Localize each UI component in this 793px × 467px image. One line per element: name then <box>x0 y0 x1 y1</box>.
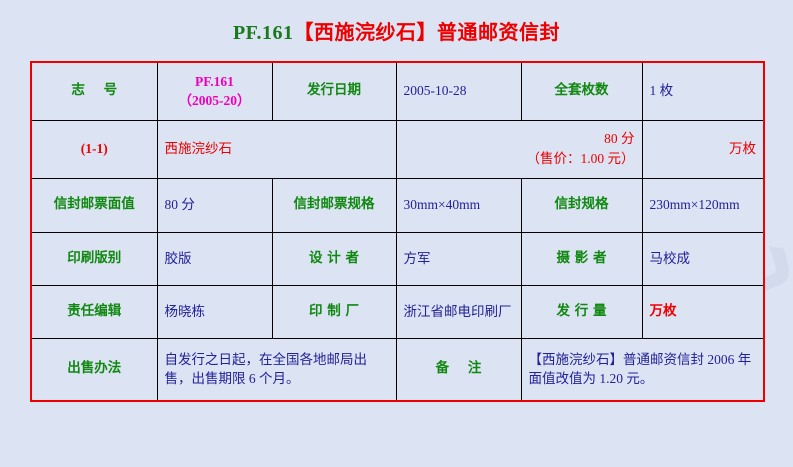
table-row: 责任编辑 杨晓栋 印 制 厂 浙江省邮电印刷厂 发 行 量 万枚 <box>31 285 764 338</box>
cell-value-printing-type: 胶版 <box>157 232 272 285</box>
cell-value-designer: 方军 <box>396 232 521 285</box>
cell-label-item-index: (1-1) <box>31 120 157 178</box>
page-title-name: 【西施浣纱石】普通邮资信封 <box>294 22 561 44</box>
cell-label-stamp-face-value: 信封邮票面值 <box>31 178 157 232</box>
cell-label-remarks: 备 注 <box>396 338 521 401</box>
cell-value-issue-date: 2005-10-28 <box>396 62 521 120</box>
cell-label-sales-method: 出售办法 <box>31 338 157 401</box>
cell-label-issue-date: 发行日期 <box>272 62 396 120</box>
cell-label-serial-number: 志 号 <box>31 62 157 120</box>
cell-value-stamp-face-value: 80 分 <box>157 178 272 232</box>
cell-value-editor: 杨晓栋 <box>157 285 272 338</box>
cell-value-envelope-size: 230mm×120mm <box>642 178 764 232</box>
cell-label-printer: 印 制 厂 <box>272 285 396 338</box>
serial-code-line-1: PF.161 <box>165 72 265 92</box>
cell-value-set-count: 1 枚 <box>642 62 764 120</box>
cell-value-item-name: 西施浣纱石 <box>157 120 396 178</box>
table-row: 志 号 PF.161 （2005-20） 发行日期 2005-10-28 全套枚… <box>31 62 764 120</box>
cell-value-face-and-price: 80 分 （售价：1.00 元） <box>396 120 642 178</box>
serial-code-line-2: （2005-20） <box>165 91 265 111</box>
cell-value-sales-method: 自发行之日起，在全国各地邮局出售，出售期限 6 个月。 <box>157 338 396 401</box>
cell-label-photographer: 摄 影 者 <box>521 232 642 285</box>
cell-value-serial-number: PF.161 （2005-20） <box>157 62 272 120</box>
cell-label-editor: 责任编辑 <box>31 285 157 338</box>
cell-label-printing-type: 印刷版别 <box>31 232 157 285</box>
cell-label-designer: 设 计 者 <box>272 232 396 285</box>
cell-label-print-run: 发 行 量 <box>521 285 642 338</box>
cell-value-remarks: 【西施浣纱石】普通邮资信封 2006 年面值改值为 1.20 元。 <box>521 338 764 401</box>
page-title: PF.161【西施浣纱石】普通邮资信封 <box>0 16 793 45</box>
cell-value-print-run: 万枚 <box>642 285 764 338</box>
cell-label-set-count: 全套枚数 <box>521 62 642 120</box>
cell-label-envelope-size: 信封规格 <box>521 178 642 232</box>
cell-value-printer: 浙江省邮电印刷厂 <box>396 285 521 338</box>
cell-value-quantity: 万枚 <box>642 120 764 178</box>
table-row: 印刷版别 胶版 设 计 者 方军 摄 影 者 马校成 <box>31 232 764 285</box>
face-value-line: 80 分 <box>404 129 635 149</box>
stamp-specification-table: 志 号 PF.161 （2005-20） 发行日期 2005-10-28 全套枚… <box>30 61 765 402</box>
cell-value-photographer: 马校成 <box>642 232 764 285</box>
page-title-code: PF.161 <box>233 22 294 44</box>
cell-label-stamp-size: 信封邮票规格 <box>272 178 396 232</box>
selling-price-line: （售价：1.00 元） <box>404 149 635 169</box>
table-row: 信封邮票面值 80 分 信封邮票规格 30mm×40mm 信封规格 230mm×… <box>31 178 764 232</box>
cell-value-stamp-size: 30mm×40mm <box>396 178 521 232</box>
table-row: 出售办法 自发行之日起，在全国各地邮局出售，出售期限 6 个月。 备 注 【西施… <box>31 338 764 401</box>
table-row: (1-1) 西施浣纱石 80 分 （售价：1.00 元） 万枚 <box>31 120 764 178</box>
